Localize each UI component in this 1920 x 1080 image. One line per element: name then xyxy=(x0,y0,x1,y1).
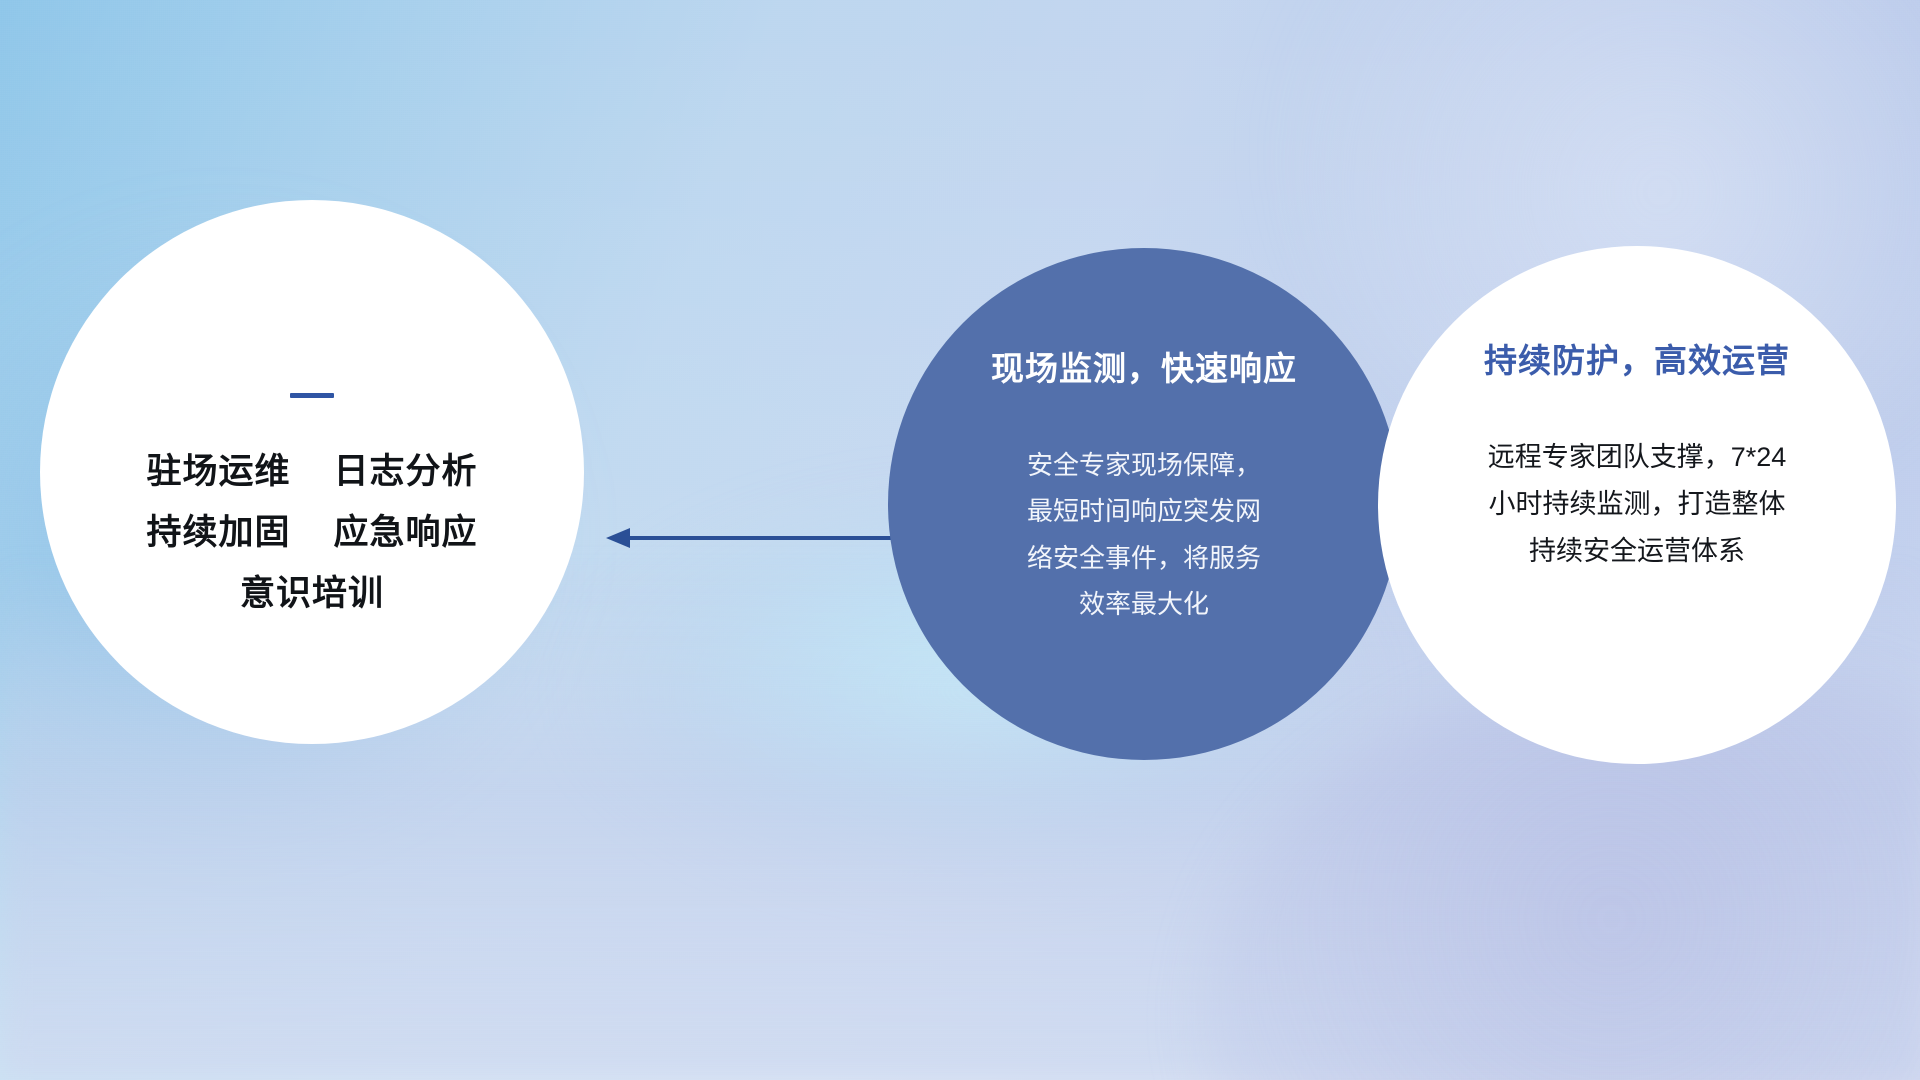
left-circle-keyword-list: 驻场运维 日志分析 持续加固 应急响应 意识培训 xyxy=(40,442,584,625)
keyword-row: 持续加固 应急响应 xyxy=(40,503,584,564)
slide-canvas: 现场监测，快速响应 安全专家现场保障， 最短时间响应突发网 络安全事件，将服务 … xyxy=(0,0,1920,1080)
keyword-row-label: 持续加固 应急响应 xyxy=(147,513,478,552)
right-circle-card: 持续防护，高效运营 远程专家团队支撑，7*24 小时持续监测，打造整体 持续安全… xyxy=(1378,246,1896,764)
middle-circle-title: 现场监测，快速响应 xyxy=(991,342,1297,390)
flow-arrow-icon xyxy=(600,520,900,556)
right-body-line: 小时持续监测，打造整体 xyxy=(1422,481,1852,528)
middle-body-line: 效率最大化 xyxy=(979,581,1309,627)
middle-circle-card: 现场监测，快速响应 安全专家现场保障， 最短时间响应突发网 络安全事件，将服务 … xyxy=(888,248,1400,760)
middle-body-line: 安全专家现场保障， xyxy=(979,442,1309,488)
right-body-line: 远程专家团队支撑，7*24 xyxy=(1422,434,1852,481)
keyword-row-label: 意识培训 xyxy=(240,574,384,613)
title-divider-dash xyxy=(290,393,334,398)
middle-body-line: 络安全事件，将服务 xyxy=(979,535,1309,581)
right-circle-body: 远程专家团队支撑，7*24 小时持续监测，打造整体 持续安全运营体系 xyxy=(1422,434,1852,575)
right-circle-title: 持续防护，高效运营 xyxy=(1484,334,1790,382)
keyword-row: 意识培训 xyxy=(40,564,584,625)
middle-body-line: 最短时间响应突发网 xyxy=(979,488,1309,534)
middle-circle-body: 安全专家现场保障， 最短时间响应突发网 络安全事件，将服务 效率最大化 xyxy=(979,442,1309,627)
keyword-row-label: 驻场运维 日志分析 xyxy=(147,452,478,491)
left-circle-card: 驻场运维 日志分析 持续加固 应急响应 意识培训 xyxy=(40,200,584,744)
keyword-row: 驻场运维 日志分析 xyxy=(40,442,584,503)
right-body-line: 持续安全运营体系 xyxy=(1422,528,1852,575)
